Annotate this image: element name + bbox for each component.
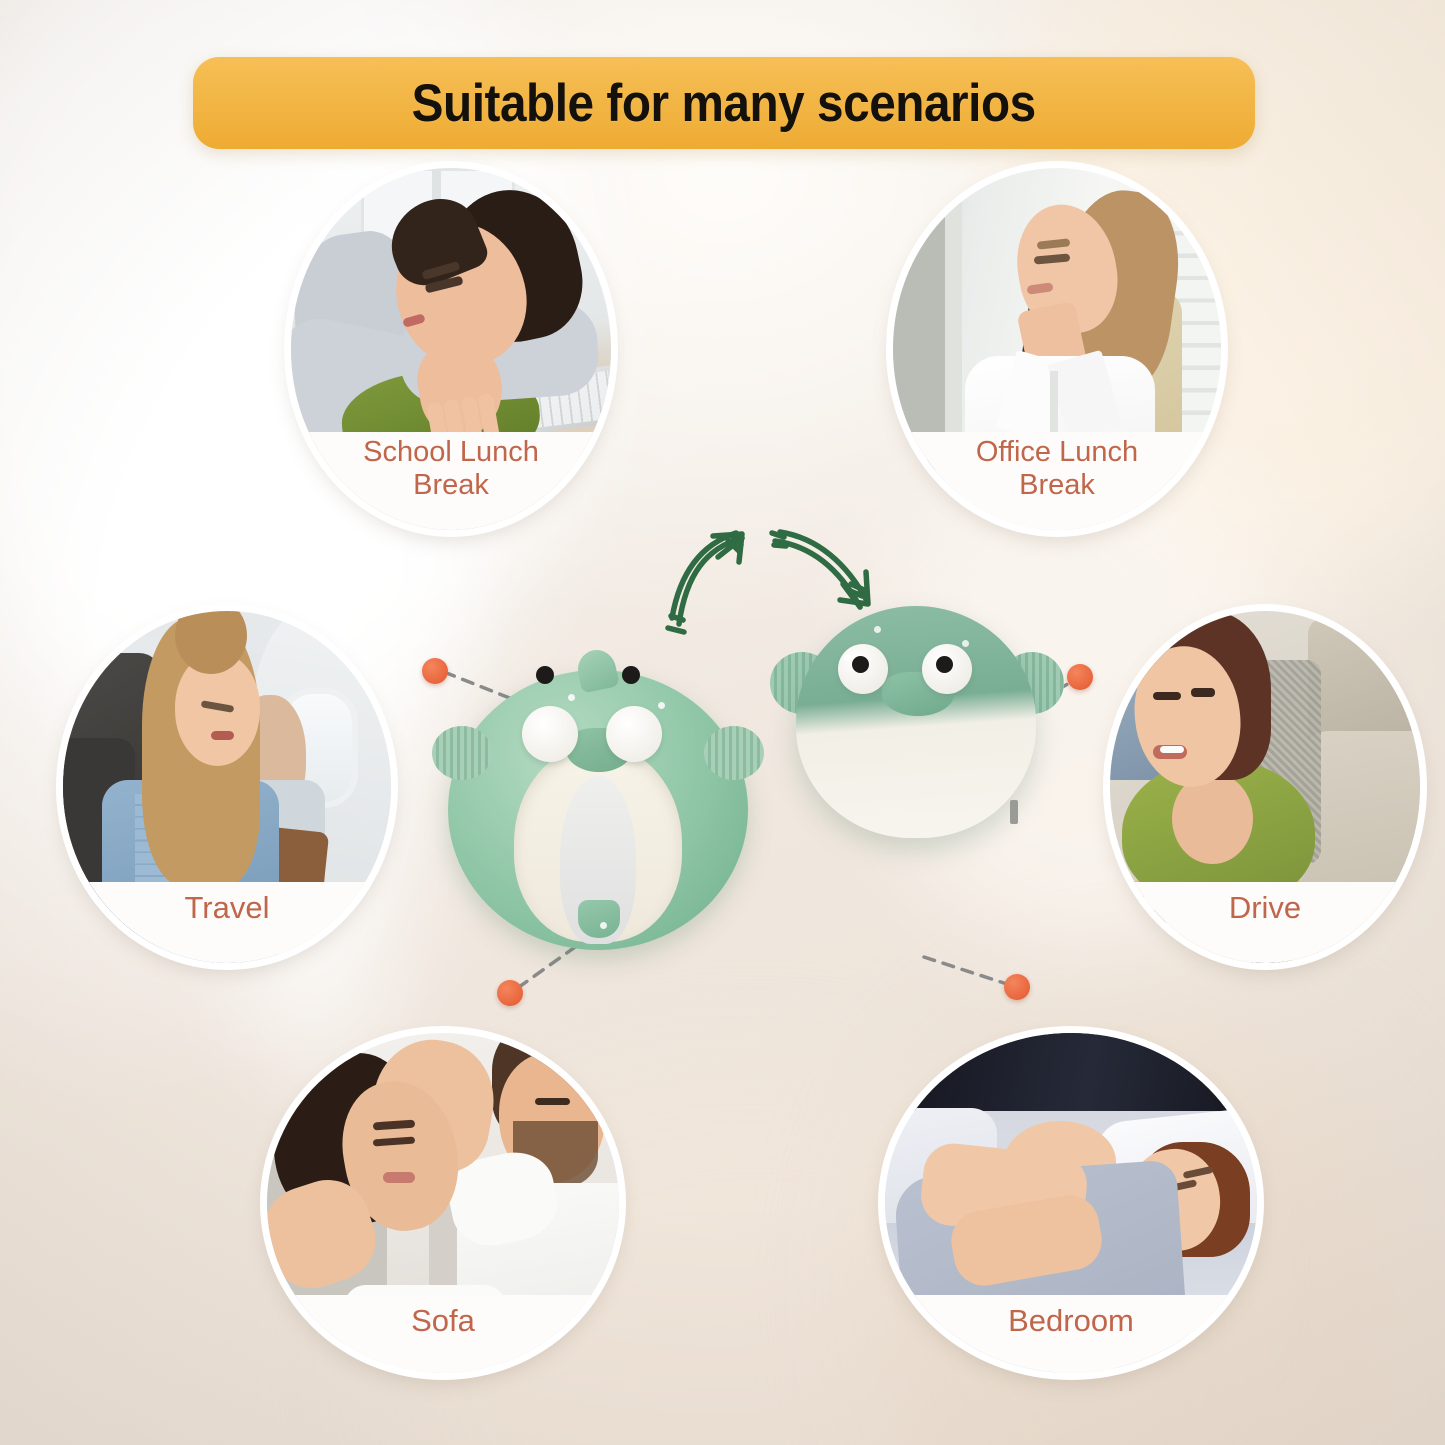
product-u-pillow[interactable] xyxy=(448,650,748,960)
caption-line-2: Break xyxy=(413,469,489,502)
ball-pupil-left xyxy=(852,656,869,673)
scenario-card-drive[interactable]: Drive xyxy=(1110,611,1420,963)
ball-fabric-tag xyxy=(1010,800,1018,824)
scenario-card-school-lunch-break[interactable]: School Lunch Break xyxy=(291,168,611,530)
u-pillow-eye-right xyxy=(606,706,662,762)
u-pillow-ear-right xyxy=(704,726,764,780)
ball-highlight xyxy=(962,640,969,647)
u-pillow-pupil-left xyxy=(536,666,554,684)
u-pillow-highlight xyxy=(600,922,607,929)
u-pillow-eye-left xyxy=(522,706,578,762)
u-pillow-pupil-right xyxy=(622,666,640,684)
connector-dot-drive xyxy=(1067,664,1093,690)
scenario-card-travel[interactable]: Travel xyxy=(63,611,391,963)
page-title: Suitable for many scenarios xyxy=(412,73,1036,134)
header-banner: Suitable for many scenarios xyxy=(193,57,1255,149)
scenario-caption-bedroom: Bedroom xyxy=(885,1295,1257,1373)
scenario-card-bedroom[interactable]: Bedroom xyxy=(885,1033,1257,1373)
caption-line-1: Office Lunch xyxy=(976,436,1138,469)
ball-highlight xyxy=(844,654,851,661)
scenario-card-office-lunch-break[interactable]: Office Lunch Break xyxy=(893,168,1221,530)
caption-line-1: Drive xyxy=(1229,890,1301,925)
scenario-caption-drive: Drive xyxy=(1110,882,1420,963)
product-ball-form[interactable] xyxy=(772,596,1062,846)
connector-dot-sofa xyxy=(497,980,523,1006)
caption-line-1: Travel xyxy=(185,890,270,925)
u-pillow-ear-left xyxy=(432,726,492,780)
ball-pupil-right xyxy=(936,656,953,673)
u-pillow-topknot xyxy=(574,646,619,693)
u-pillow-snap-clip xyxy=(578,900,620,938)
caption-line-2: Break xyxy=(1019,469,1095,502)
ball-highlight xyxy=(874,626,881,633)
connector-dot-travel xyxy=(422,658,448,684)
caption-line-1: School Lunch xyxy=(363,436,539,469)
u-pillow-highlight xyxy=(568,694,575,701)
scenario-caption-office-lunch-break: Office Lunch Break xyxy=(893,432,1221,530)
connector-dot-bedroom xyxy=(1004,974,1030,1000)
caption-line-1: Sofa xyxy=(411,1303,475,1338)
scenario-caption-sofa: Sofa xyxy=(267,1295,619,1373)
caption-line-1: Bedroom xyxy=(1008,1303,1134,1338)
ball-body xyxy=(796,606,1036,838)
scenario-caption-school-lunch-break: School Lunch Break xyxy=(291,432,611,530)
scenario-caption-travel: Travel xyxy=(63,882,391,963)
u-pillow-highlight xyxy=(658,702,665,709)
infographic-stage: Suitable for many scenarios xyxy=(0,0,1445,1445)
scenario-card-sofa[interactable]: Sofa xyxy=(267,1033,619,1373)
